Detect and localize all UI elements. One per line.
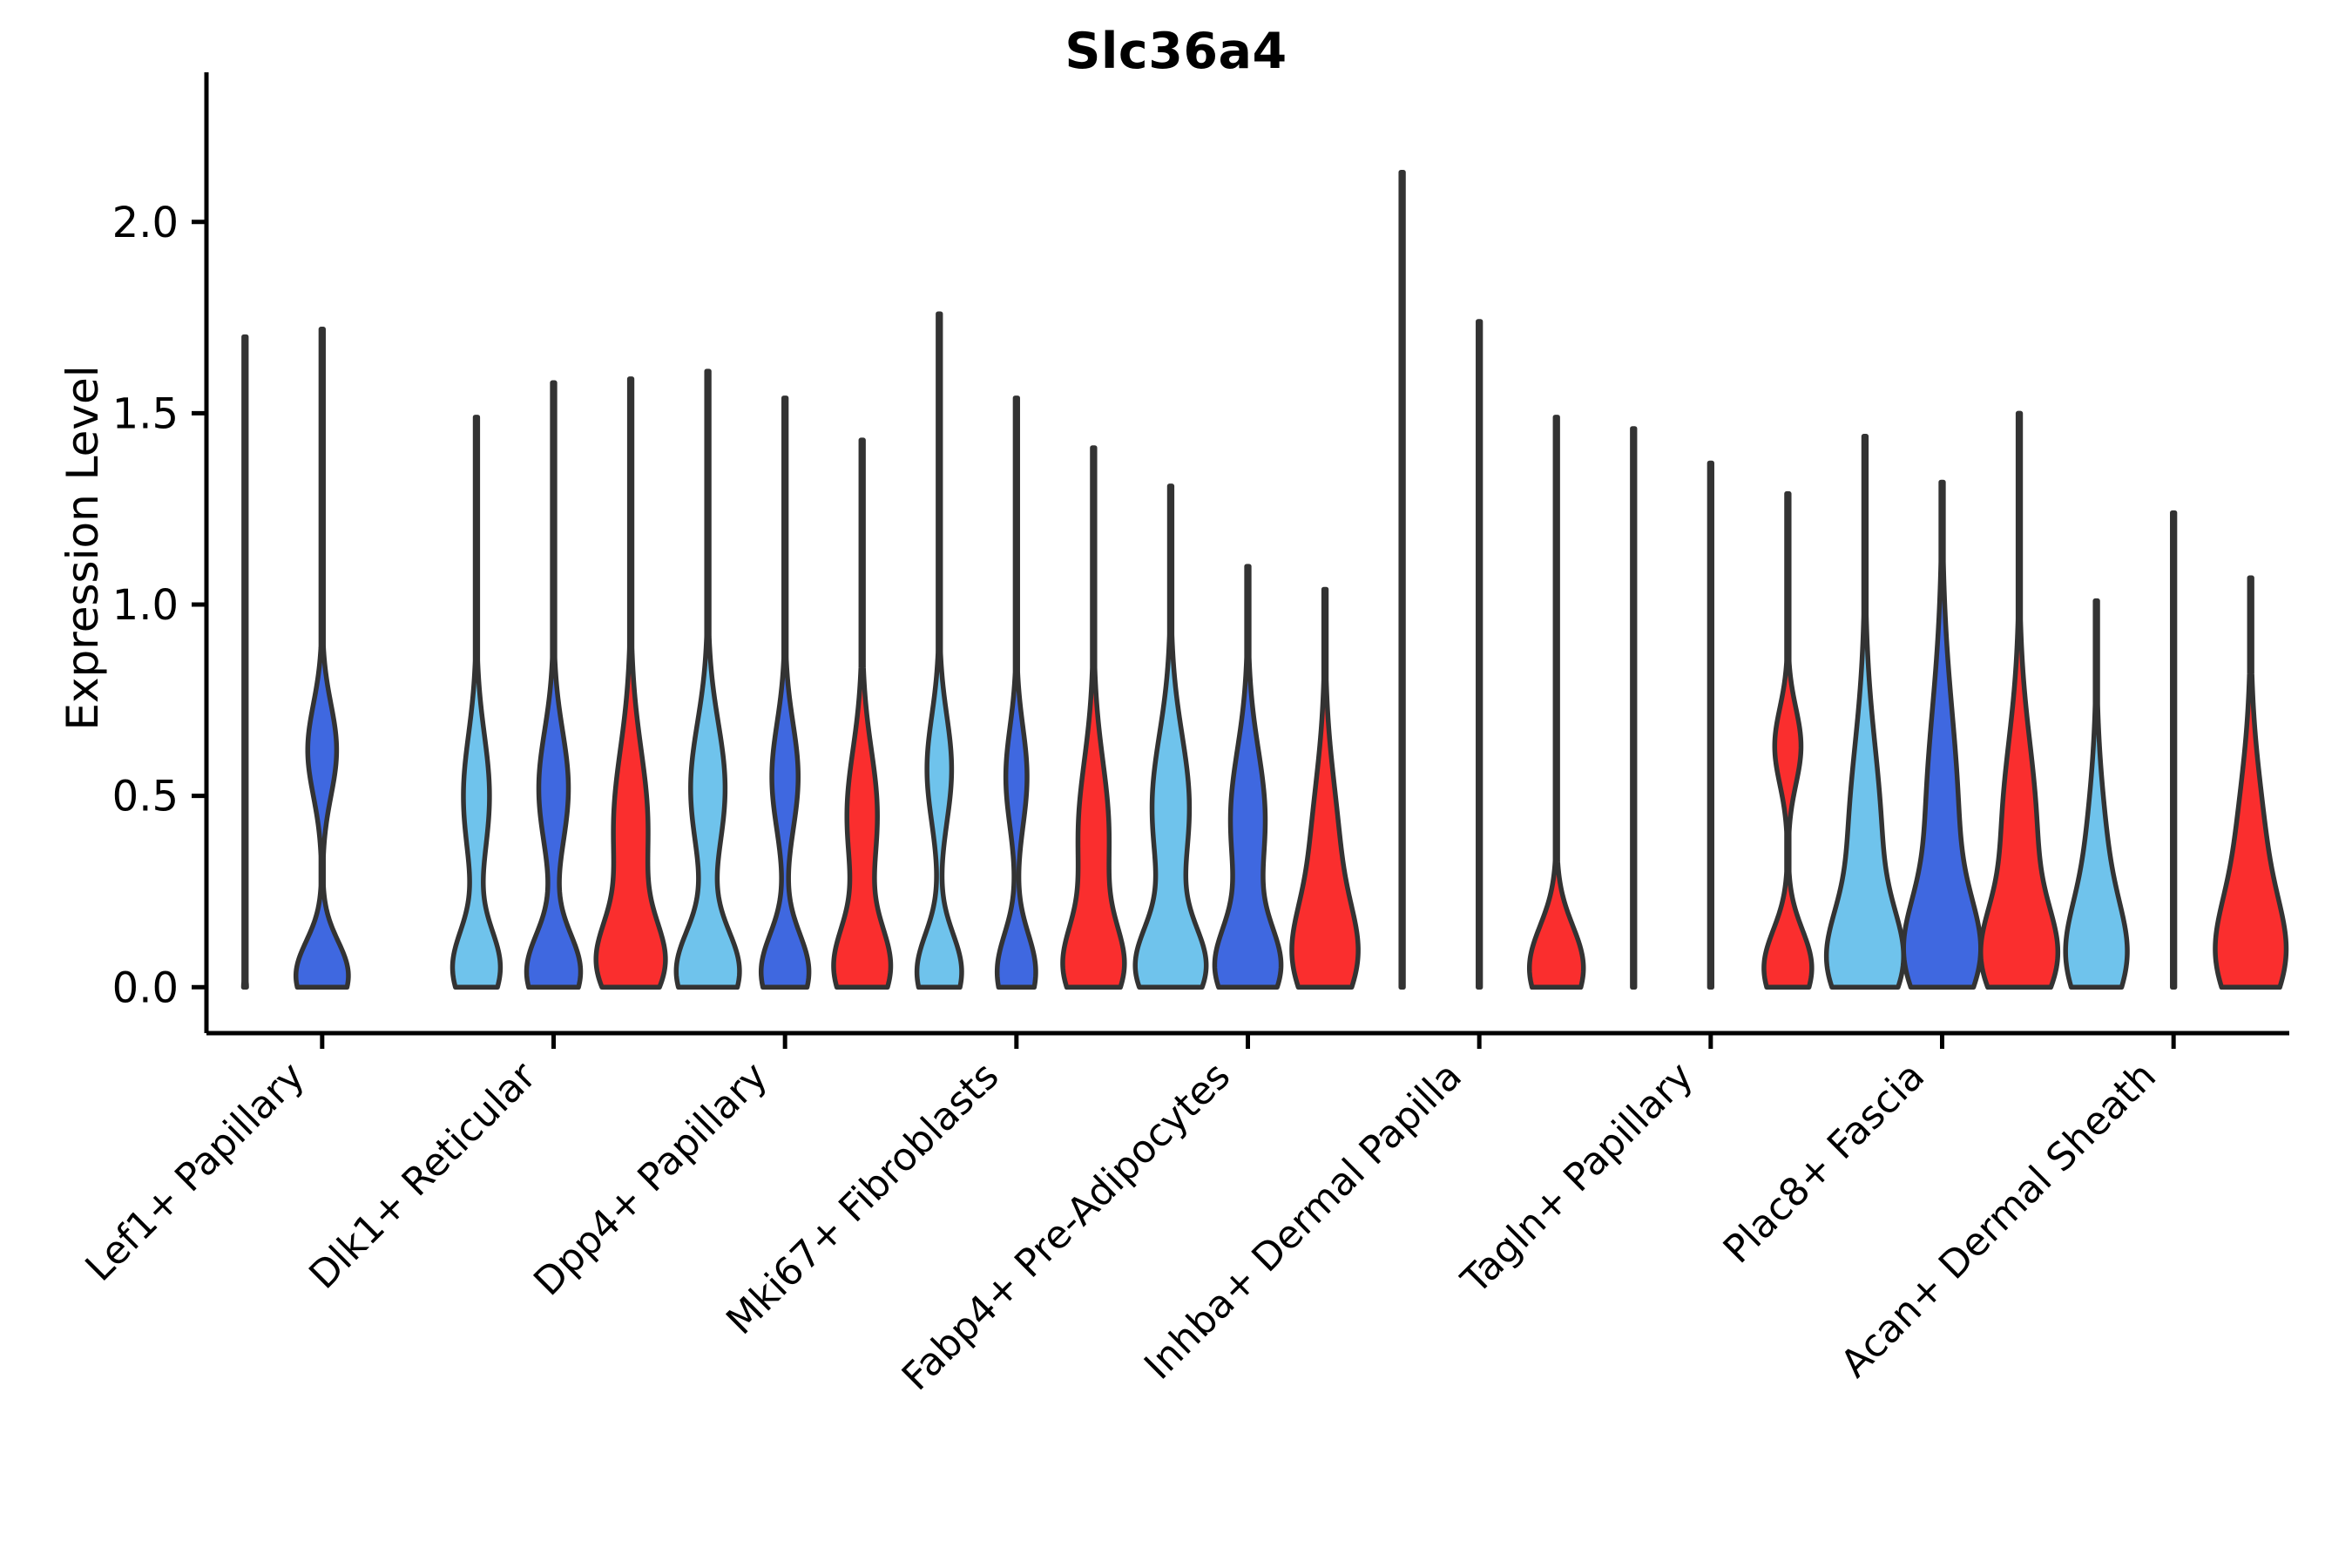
- violin-8-3: [1981, 413, 2058, 987]
- violin-2-1: [452, 417, 500, 987]
- x-tick-label-2: Dlk1+ Reticular: [301, 1053, 545, 1298]
- violin-2-3: [596, 379, 666, 987]
- violin-9-1: [2065, 601, 2127, 988]
- y-tick-label: 1.0: [112, 581, 179, 630]
- violin-8-1: [1827, 436, 1904, 988]
- violin-3-1: [676, 371, 740, 987]
- violin-5-3: [1292, 589, 1358, 987]
- y-tick-labels: 0.00.51.01.52.0: [112, 199, 179, 1012]
- y-tick-label: 2.0: [112, 199, 179, 247]
- violin-9-3: [2215, 578, 2286, 987]
- violin-6-1: [1401, 172, 1403, 988]
- x-tick-label-7: Tagln+ Papillary: [1452, 1054, 1701, 1303]
- x-tick-labels: Lef1+ PapillaryDlk1+ ReticularDpp4+ Papi…: [78, 1053, 2165, 1399]
- violin-7-1: [1632, 429, 1635, 987]
- violin-4-2: [997, 398, 1036, 987]
- violin-9-2: [2173, 513, 2175, 988]
- violin-plot-figure: Slc36a4 Expression Level 0.00.51.01.52.0…: [0, 0, 2352, 1568]
- violin-6-2: [1478, 321, 1481, 987]
- violin-1-1: [244, 337, 247, 988]
- violin-4-3: [1063, 448, 1125, 987]
- violin-2-2: [527, 382, 581, 987]
- violin-5-1: [1135, 486, 1206, 987]
- violin-7-2: [1709, 463, 1712, 988]
- y-tick-label: 1.5: [112, 389, 179, 438]
- violin-3-2: [761, 398, 809, 987]
- x-tick-label-8: Plac8+ Fascia: [1715, 1054, 1934, 1273]
- violins-layer: [244, 172, 2287, 988]
- chart-canvas: 0.00.51.01.52.0 Lef1+ PapillaryDlk1+ Ret…: [0, 0, 2352, 1568]
- violin-6-3: [1530, 417, 1584, 987]
- violin-4-1: [917, 314, 962, 987]
- violin-1-2: [296, 329, 348, 987]
- violin-3-3: [834, 440, 891, 987]
- y-tick-label: 0.5: [112, 773, 179, 821]
- violin-7-3: [1764, 494, 1812, 988]
- violin-8-2: [1903, 482, 1981, 987]
- violin-5-2: [1214, 566, 1281, 987]
- y-tick-label: 0.0: [112, 963, 179, 1012]
- x-tick-label-1: Lef1+ Papillary: [78, 1054, 314, 1290]
- x-tick-label-3: Dpp4+ Papillary: [525, 1054, 776, 1305]
